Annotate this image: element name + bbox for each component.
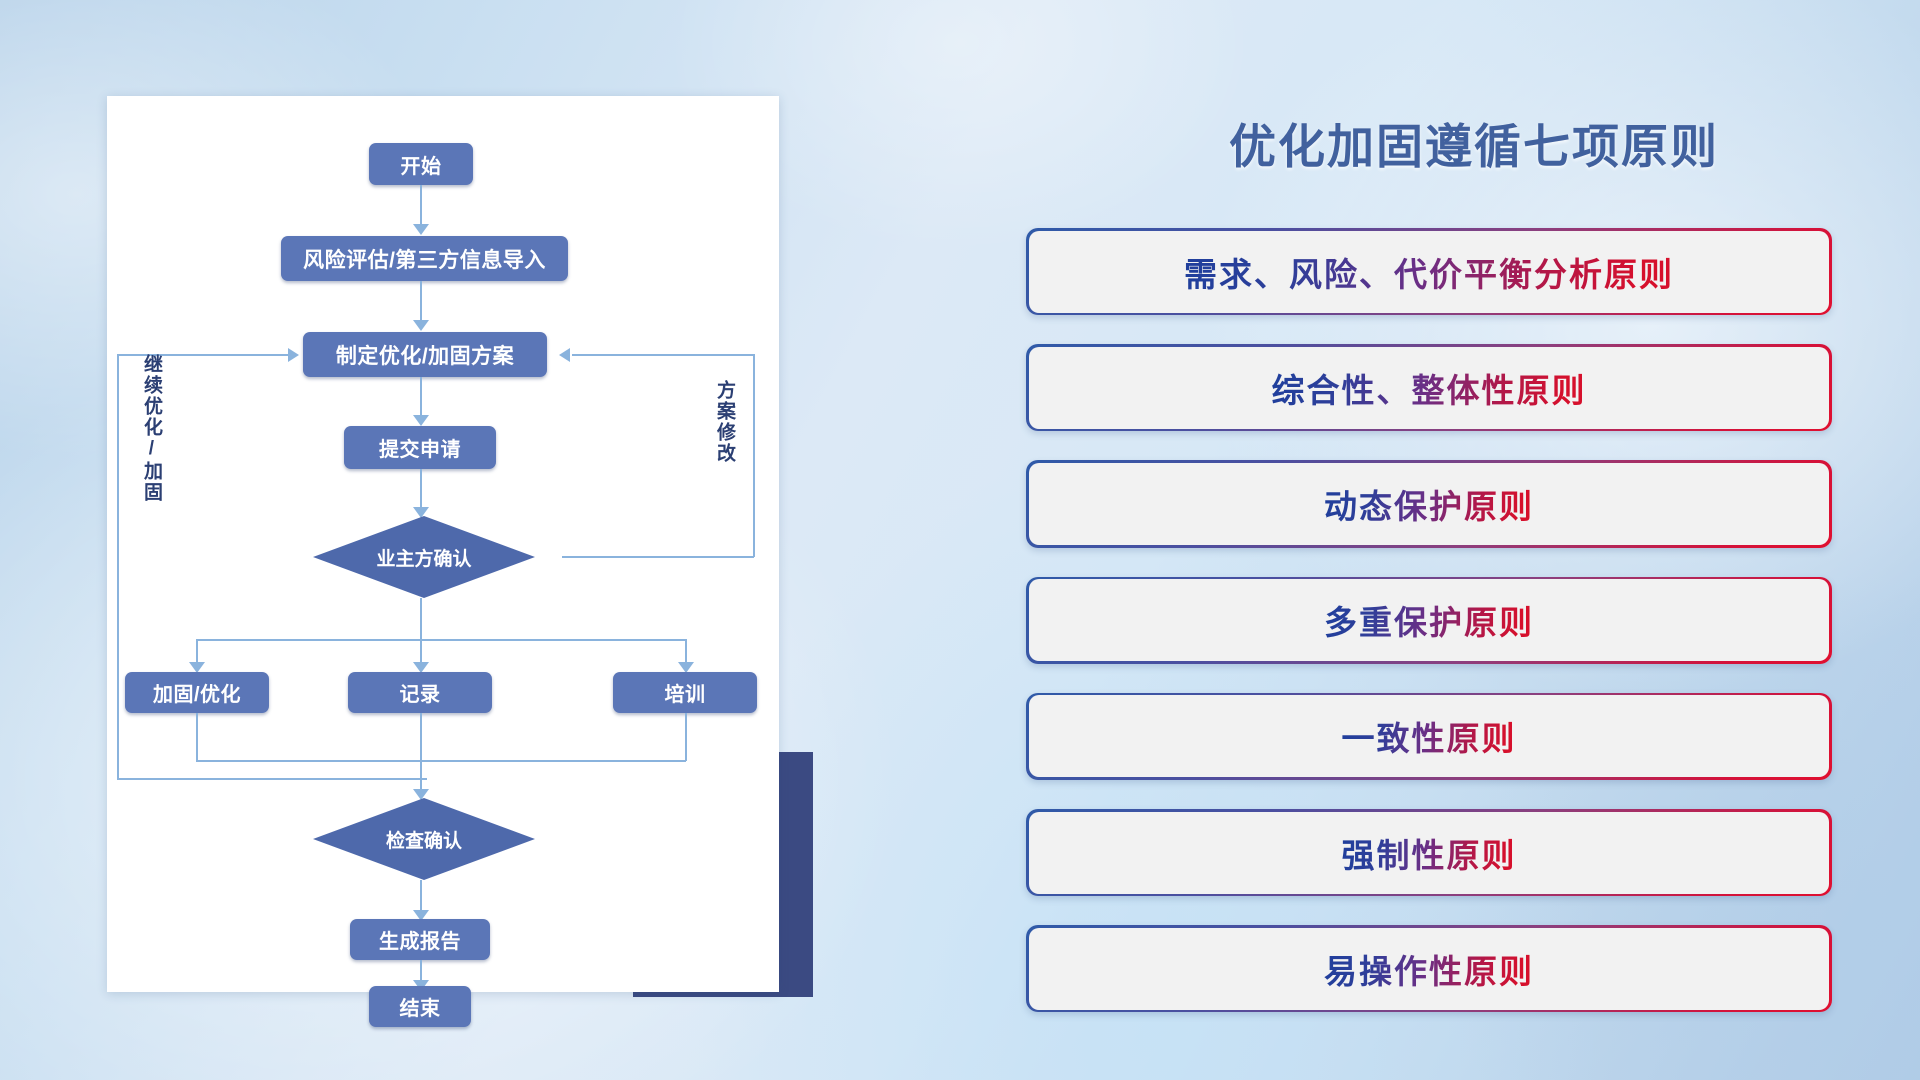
flow-node-risk-assessment[interactable]: 风险评估/第三方信息导入 xyxy=(281,236,568,281)
flow-node-submit-application[interactable]: 提交申请 xyxy=(344,426,496,469)
principle-card-inner: 动态保护原则 xyxy=(1029,463,1830,545)
right-loop-bottom-horizontal xyxy=(562,556,754,558)
principle-card-1[interactable]: 需求、风险、代价平衡分析原则 xyxy=(1026,228,1832,315)
principle-card-4[interactable]: 多重保护原则 xyxy=(1026,577,1832,664)
connector-merge-to-check xyxy=(420,713,422,797)
flow-node-start[interactable]: 开始 xyxy=(369,143,473,185)
arrowhead-down-icon xyxy=(413,415,429,426)
flow-node-end[interactable]: 结束 xyxy=(369,986,471,1027)
flow-node-label: 检查确认 xyxy=(386,826,462,853)
flow-node-training[interactable]: 培训 xyxy=(613,672,757,713)
flow-node-label: 培训 xyxy=(665,678,706,707)
principle-card-2[interactable]: 综合性、整体性原则 xyxy=(1026,344,1832,431)
flow-node-label: 风险评估/第三方信息导入 xyxy=(303,244,546,274)
panel-title: 优化加固遵循七项原则 xyxy=(1154,108,1794,177)
principle-card-inner: 需求、风险、代价平衡分析原则 xyxy=(1029,231,1830,313)
flowchart-diagram: 开始 风险评估/第三方信息导入 制定优化/加固方案 继续优化/加固 方案修改 提… xyxy=(107,96,779,992)
merge-left-rise xyxy=(196,713,198,761)
flow-node-label: 业主方确认 xyxy=(376,544,471,571)
principle-label: 综合性、整体性原则 xyxy=(1272,364,1587,412)
flow-node-reinforce-optimize[interactable]: 加固/优化 xyxy=(125,672,269,713)
merge-right-rise xyxy=(685,713,687,761)
flow-node-generate-report[interactable]: 生成报告 xyxy=(350,919,490,960)
connector-owner-down xyxy=(420,598,422,640)
flow-node-label: 提交申请 xyxy=(379,433,461,462)
principle-card-5[interactable]: 一致性原则 xyxy=(1026,693,1832,780)
flow-node-label: 制定优化/加固方案 xyxy=(336,340,514,370)
flow-node-owner-confirm[interactable]: 业主方确认 xyxy=(313,516,535,598)
principle-card-inner: 易操作性原则 xyxy=(1029,928,1830,1010)
principle-label: 易操作性原则 xyxy=(1324,945,1534,993)
arrowhead-right-icon xyxy=(288,348,299,362)
principle-card-inner: 综合性、整体性原则 xyxy=(1029,347,1830,429)
flow-node-record[interactable]: 记录 xyxy=(348,672,492,713)
principle-card-3[interactable]: 动态保护原则 xyxy=(1026,460,1832,547)
principle-card-inner: 一致性原则 xyxy=(1029,695,1830,777)
principle-card-7[interactable]: 易操作性原则 xyxy=(1026,925,1832,1012)
edge-label-plan-revision: 方案修改 xyxy=(714,380,734,490)
principles-list: 需求、风险、代价平衡分析原则 综合性、整体性原则 动态保护原则 多重保护原则 一… xyxy=(1026,228,1832,1041)
principles-panel: 优化加固遵循七项原则 需求、风险、代价平衡分析原则 综合性、整体性原则 动态保护… xyxy=(1020,0,1920,1080)
principle-card-inner: 强制性原则 xyxy=(1029,812,1830,894)
edge-label-continue-optimize: 继续优化/加固 xyxy=(141,354,161,514)
principle-label: 需求、风险、代价平衡分析原则 xyxy=(1184,248,1674,296)
flow-node-make-plan[interactable]: 制定优化/加固方案 xyxy=(303,332,547,377)
arrowhead-left-icon xyxy=(559,348,570,362)
flow-node-check-confirm[interactable]: 检查确认 xyxy=(313,798,535,880)
right-loop-top-horizontal xyxy=(572,354,755,356)
principle-label: 一致性原则 xyxy=(1342,712,1517,760)
flow-node-label: 开始 xyxy=(401,150,442,179)
arrowhead-down-icon xyxy=(413,224,429,235)
merge-bar xyxy=(196,760,686,762)
flowchart-card: 开始 风险评估/第三方信息导入 制定优化/加固方案 继续优化/加固 方案修改 提… xyxy=(107,96,779,992)
flow-node-label: 结束 xyxy=(400,992,441,1021)
flow-node-label: 记录 xyxy=(400,678,441,707)
left-loop-bottom-horizontal xyxy=(117,778,427,780)
principle-card-6[interactable]: 强制性原则 xyxy=(1026,809,1832,896)
principle-card-inner: 多重保护原则 xyxy=(1029,579,1830,661)
branch-bar-top xyxy=(196,639,686,641)
principle-label: 动态保护原则 xyxy=(1324,480,1534,528)
left-loop-vertical xyxy=(117,354,119,778)
principle-label: 强制性原则 xyxy=(1342,829,1517,877)
flow-node-label: 加固/优化 xyxy=(153,678,241,707)
flow-node-label: 生成报告 xyxy=(379,925,461,954)
right-loop-vertical xyxy=(753,354,755,557)
principle-label: 多重保护原则 xyxy=(1324,596,1534,644)
arrowhead-down-icon xyxy=(413,320,429,331)
